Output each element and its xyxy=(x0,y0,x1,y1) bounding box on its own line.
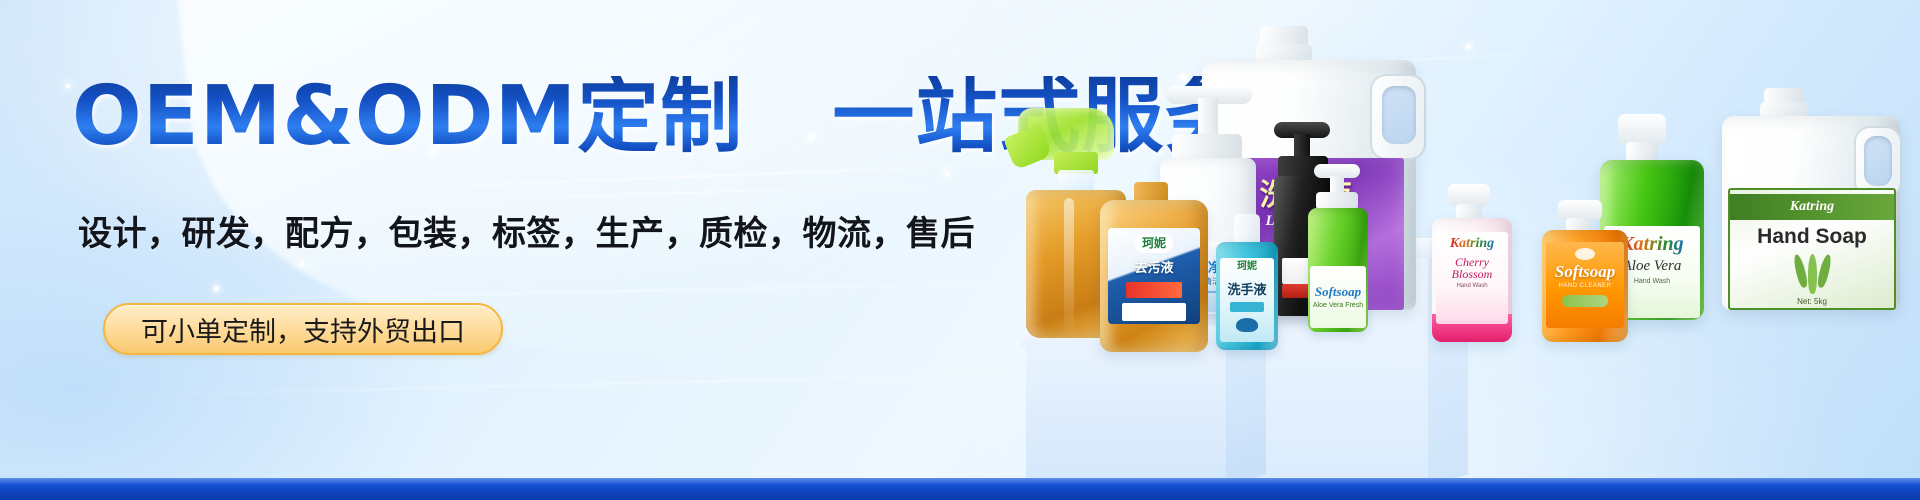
cherry-variant: Cherry Blossom xyxy=(1436,256,1508,281)
aloe-sub: Hand Wash xyxy=(1634,278,1670,285)
promo-banner: OEM&ODM定制 一站式服务 设计，研发，配方，包装，标签，生产，质检，物流，… xyxy=(0,0,1920,500)
headline-primary: OEM&ODM定制 xyxy=(72,69,743,164)
sparkle-icon xyxy=(66,84,70,88)
bottom-accent-bar xyxy=(0,478,1920,500)
sparkle-icon xyxy=(300,262,304,266)
jerrycan-small-label: Katring Hand Soap Net: 5kg xyxy=(1728,188,1896,310)
pump-bottle-black xyxy=(1272,126,1276,130)
softsoap-green-brand: Softsoap xyxy=(1315,285,1361,299)
badge-label: 可小单定制，支持外贸出口 xyxy=(141,310,465,349)
pump-bottle-white: 洁净 气雾清洁喷 xyxy=(1150,92,1154,96)
jerrycan-small-net: Net: 5kg xyxy=(1797,298,1827,306)
sparkle-icon xyxy=(214,286,219,291)
aloe-brand: Katring xyxy=(1620,234,1683,255)
pedestal-front-face xyxy=(1026,344,1226,480)
pedestal-front-side xyxy=(1226,334,1266,485)
detergent-bottle-amber: 珂妮 去污液 xyxy=(1100,198,1104,202)
softsoap-orange-label: Softsoap HAND CLEANER xyxy=(1546,242,1624,328)
detergent-brand: 珂妮 xyxy=(1142,236,1166,250)
jerrycan-small-brand: Katring xyxy=(1790,200,1834,215)
jerrycan-large: 珂妮 洗手液 Liquid Soap 清洁洗手 xyxy=(1430,26,1434,30)
status-badge: 可小单定制，支持外贸出口 xyxy=(103,303,503,355)
softsoap-orange-brand: Softsoap xyxy=(1555,263,1615,281)
cherry-sub: Hand Wash xyxy=(1456,283,1487,289)
softsoap-bottle-green: Softsoap Aloe Vera Fresh xyxy=(1300,190,1304,194)
sparkle-icon xyxy=(945,172,949,176)
cherry-blossom-bottle: Katring Cherry Blossom Hand Wash xyxy=(1428,218,1432,222)
product-showcase: 珂妮 洗手液 Liquid Soap 清洁洗手 Katring Hand Soa… xyxy=(1000,0,1920,500)
sanitizer-bottle-blue: 珂妮 洗手液 xyxy=(1216,244,1220,248)
softsoap-green-label: Softsoap Aloe Vera Fresh xyxy=(1310,266,1366,328)
sanitizer-label: 珂妮 洗手液 xyxy=(1220,258,1274,342)
cherry-brand: Katring xyxy=(1450,237,1494,252)
service-list-subtitle: 设计，研发，配方，包装，标签，生产，质检，物流，售后 xyxy=(78,206,975,255)
jerrycan-small: Katring Hand Soap Net: 5kg xyxy=(1742,96,1746,100)
detergent-title: 去污液 xyxy=(1134,261,1173,275)
aloe-vera-bottle: Katring Aloe Vera Hand Wash xyxy=(1592,160,1596,164)
softsoap-green-sub: Aloe Vera Fresh xyxy=(1313,302,1363,309)
bottom-bar-gloss xyxy=(0,478,1920,485)
sanitizer-brand: 珂妮 xyxy=(1237,262,1257,273)
cherry-blossom-label: Katring Cherry Blossom Hand Wash xyxy=(1436,232,1508,324)
spray-bottle xyxy=(1018,108,1022,112)
jerrycan-small-title: Hand Soap xyxy=(1757,226,1867,248)
detergent-label: 珂妮 去污液 xyxy=(1108,228,1200,324)
softsoap-bottle-orange: Softsoap HAND CLEANER xyxy=(1540,230,1544,234)
sanitizer-title: 洗手液 xyxy=(1227,283,1266,297)
softsoap-orange-sub: HAND CLEANER xyxy=(1558,283,1611,289)
aloe-variant: Aloe Vera xyxy=(1623,259,1682,275)
